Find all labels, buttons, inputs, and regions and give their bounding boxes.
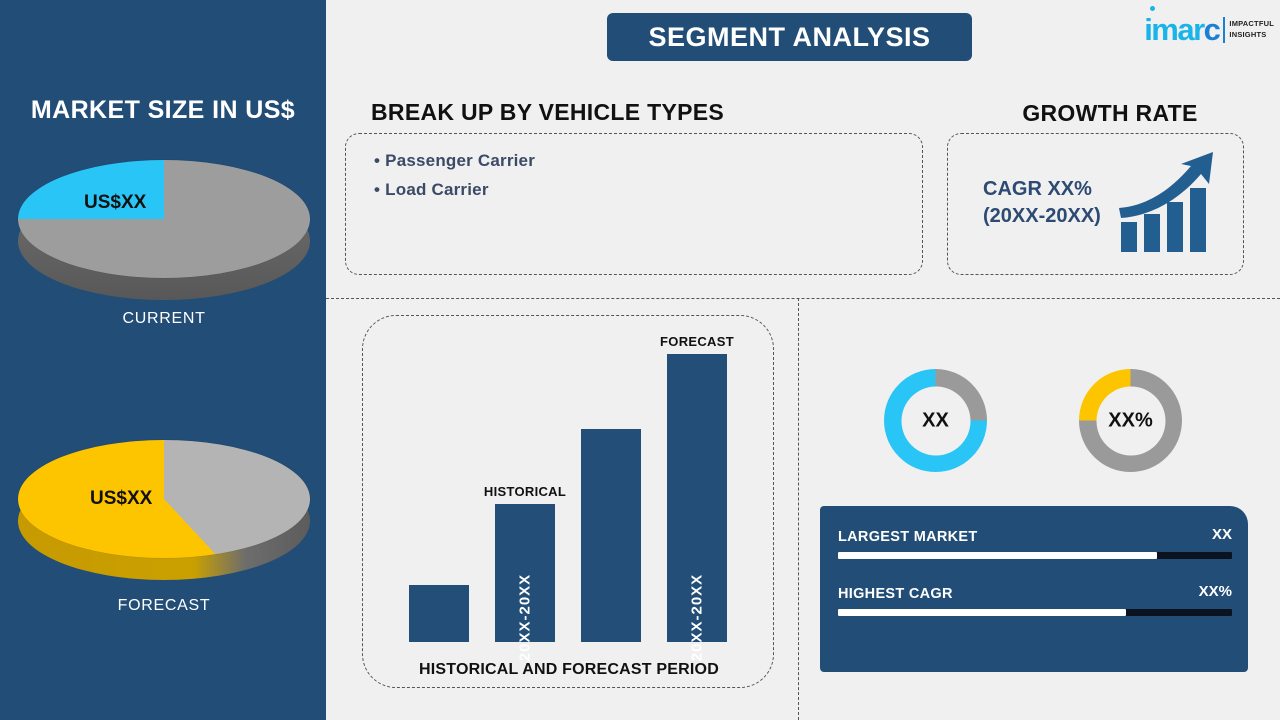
horizontal-divider xyxy=(326,298,1280,299)
bar-item: HISTORICAL 20XX-20XX xyxy=(495,504,555,642)
vehicle-type-item: •Passenger Carrier xyxy=(374,146,922,175)
vertical-divider xyxy=(798,298,799,720)
bar-item xyxy=(581,429,641,642)
current-pie-top xyxy=(18,160,310,278)
growth-arrow-chart-icon xyxy=(1117,150,1227,260)
highest-cagr-value: XX% xyxy=(1199,583,1232,600)
vehicle-type-label: Passenger Carrier xyxy=(385,151,535,170)
cagr-text: CAGR XX% (20XX-20XX) xyxy=(983,176,1101,230)
logo-tagline: IMPACTFUL INSIGHTS xyxy=(1229,19,1274,39)
growth-rate-title: GROWTH RATE xyxy=(940,100,1280,127)
bar-period-label: 20XX-20XX xyxy=(517,574,534,661)
largest-market-progress-track xyxy=(838,552,1232,559)
vehicle-types-title: BREAK UP BY VEHICLE TYPES xyxy=(371,99,724,126)
cagr-period: (20XX-20XX) xyxy=(983,203,1101,230)
forecast-pie-value-label: US$XX xyxy=(90,488,152,510)
forecast-pie-caption: FORECAST xyxy=(18,597,310,615)
header: SEGMENT ANALYSIS imarc IMPACTFUL INSIGHT… xyxy=(326,0,1280,74)
logo-dot-icon xyxy=(1150,6,1155,11)
bar-item xyxy=(409,585,469,642)
units-donut-center-label: XX xyxy=(901,386,970,455)
highest-cagr-label: HIGHEST CAGR xyxy=(838,586,953,602)
page-title: MARKET SIZE IN US$ xyxy=(0,96,326,125)
forecast-pie-chart: US$XX FORECAST xyxy=(18,440,310,610)
bar-chart: HISTORICAL 20XX-20XX FORECAST 20XX-20XX xyxy=(409,342,734,642)
historical-forecast-chart-box: HISTORICAL 20XX-20XX FORECAST 20XX-20XX … xyxy=(362,315,774,688)
logo-divider xyxy=(1223,17,1225,43)
highest-cagr-progress-fill xyxy=(838,609,1126,616)
bar-annotation-forecast: FORECAST xyxy=(660,334,734,349)
growth-rate-box: CAGR XX% (20XX-20XX) xyxy=(947,133,1244,275)
bullet-icon: • xyxy=(374,180,380,199)
current-pie-caption: CURRENT xyxy=(18,310,310,328)
highest-cagr-metric: HIGHEST CAGR XX% xyxy=(838,585,1232,616)
vehicle-type-item: •Load Carrier xyxy=(374,175,922,204)
logo-word-part1: imar xyxy=(1144,12,1203,47)
largest-market-value: XX xyxy=(1212,526,1232,543)
imarc-logo: imarc IMPACTFUL INSIGHTS xyxy=(1144,14,1274,45)
vehicle-types-box: •Passenger Carrier •Load Carrier xyxy=(345,133,923,275)
share-donut-center-label: XX% xyxy=(1096,386,1165,455)
cagr-value: CAGR XX% xyxy=(983,176,1101,203)
share-donut-chart: XX% xyxy=(1079,369,1182,472)
forecast-pie-top xyxy=(18,440,310,558)
market-size-panel: MARKET SIZE IN US$ US$XX CURRENT US$XX F… xyxy=(0,0,326,720)
bar-item: FORECAST 20XX-20XX xyxy=(667,354,727,642)
current-pie-chart: US$XX CURRENT xyxy=(18,160,310,330)
segment-analysis-title: SEGMENT ANALYSIS xyxy=(607,13,972,61)
current-pie-3d: US$XX xyxy=(18,160,310,300)
bar-annotation-historical: HISTORICAL xyxy=(484,484,566,499)
units-donut-chart: XX xyxy=(884,369,987,472)
largest-market-metric: LARGEST MARKET XX xyxy=(838,528,1232,559)
bullet-icon: • xyxy=(374,151,380,170)
largest-market-label: LARGEST MARKET xyxy=(838,529,978,545)
largest-market-progress-fill xyxy=(838,552,1157,559)
logo-tagline-line2: INSIGHTS xyxy=(1229,30,1274,40)
highest-cagr-progress-track xyxy=(838,609,1232,616)
logo-wordmark: imarc xyxy=(1144,14,1219,45)
logo-word-part2: c xyxy=(1204,12,1220,47)
current-pie-value-label: US$XX xyxy=(84,192,146,214)
market-metrics-card: LARGEST MARKET XX HIGHEST CAGR XX% xyxy=(820,506,1248,672)
logo-tagline-line1: IMPACTFUL xyxy=(1229,19,1274,29)
bar-period-label: 20XX-20XX xyxy=(689,574,706,661)
bar-chart-caption: HISTORICAL AND FORECAST PERIOD xyxy=(363,661,775,679)
forecast-pie-3d: US$XX xyxy=(18,440,310,580)
vehicle-type-label: Load Carrier xyxy=(385,180,489,199)
